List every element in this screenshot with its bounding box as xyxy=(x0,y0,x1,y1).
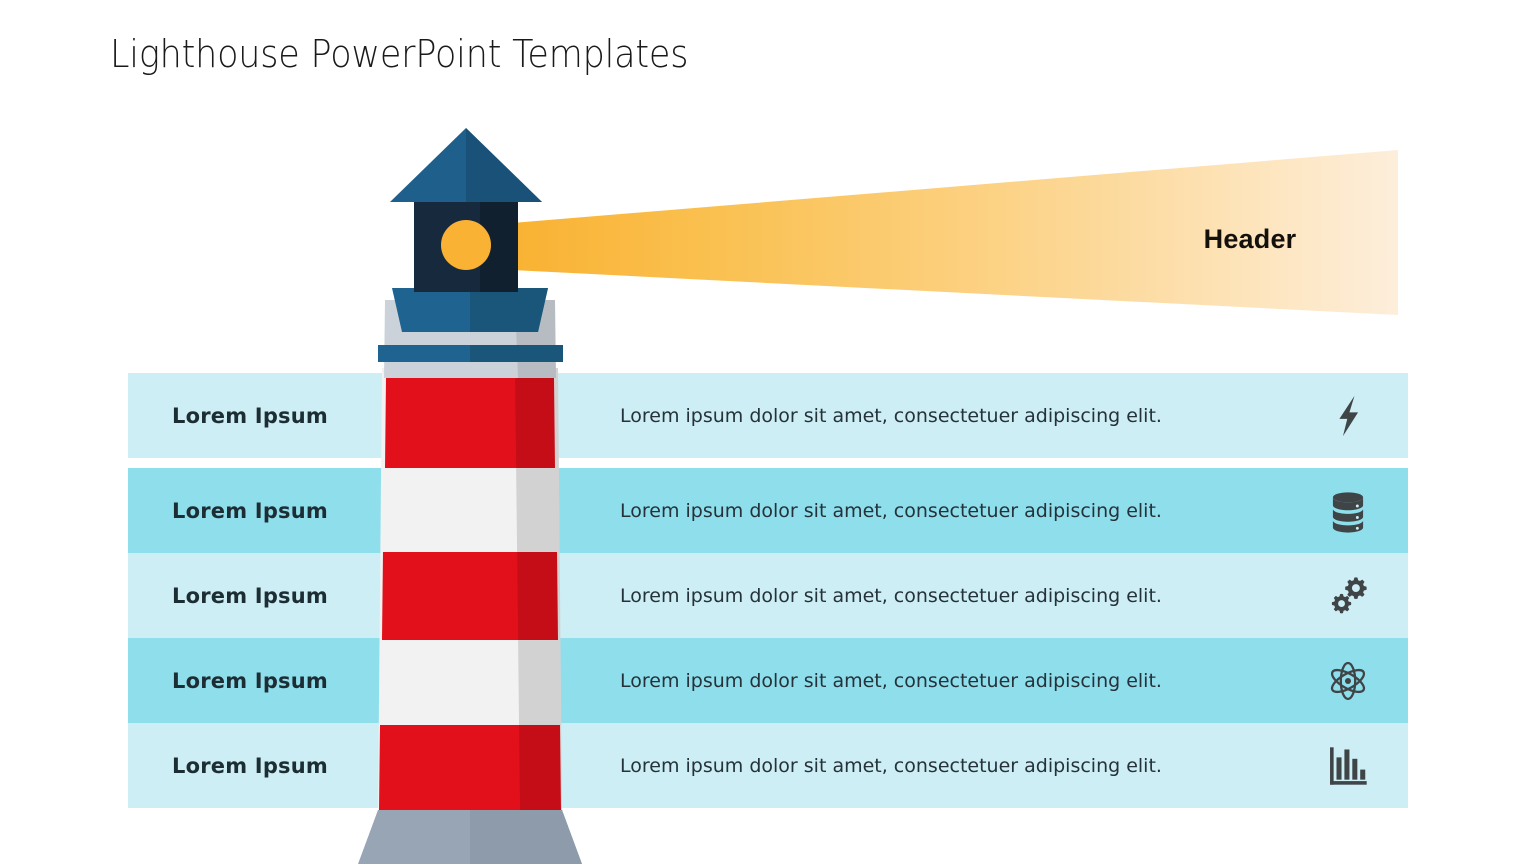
table-row[interactable]: Lorem Ipsum Lorem ipsum dolor sit amet, … xyxy=(128,468,1408,553)
lantern-light xyxy=(441,220,491,270)
page-title: Lighthouse PowerPoint Templates xyxy=(110,32,688,76)
table-row[interactable]: Lorem Ipsum Lorem ipsum dolor sit amet, … xyxy=(128,638,1408,723)
table-row[interactable]: Lorem Ipsum Lorem ipsum dolor sit amet, … xyxy=(128,723,1408,808)
beam-header-label: Header xyxy=(1150,224,1350,255)
gears-icon xyxy=(1288,573,1408,619)
lighthouse-illustration xyxy=(330,120,610,864)
atom-icon xyxy=(1288,658,1408,704)
table-row[interactable]: Lorem Ipsum Lorem ipsum dolor sit amet, … xyxy=(128,553,1408,638)
content-rows: Lorem Ipsum Lorem ipsum dolor sit amet, … xyxy=(128,373,1408,808)
database-icon xyxy=(1288,488,1408,534)
lightning-bolt-icon xyxy=(1288,393,1408,439)
table-row[interactable]: Lorem Ipsum Lorem ipsum dolor sit amet, … xyxy=(128,373,1408,458)
bar-chart-icon xyxy=(1288,743,1408,789)
slide-canvas: Lighthouse PowerPoint Templates Lorem Ip… xyxy=(0,0,1536,864)
